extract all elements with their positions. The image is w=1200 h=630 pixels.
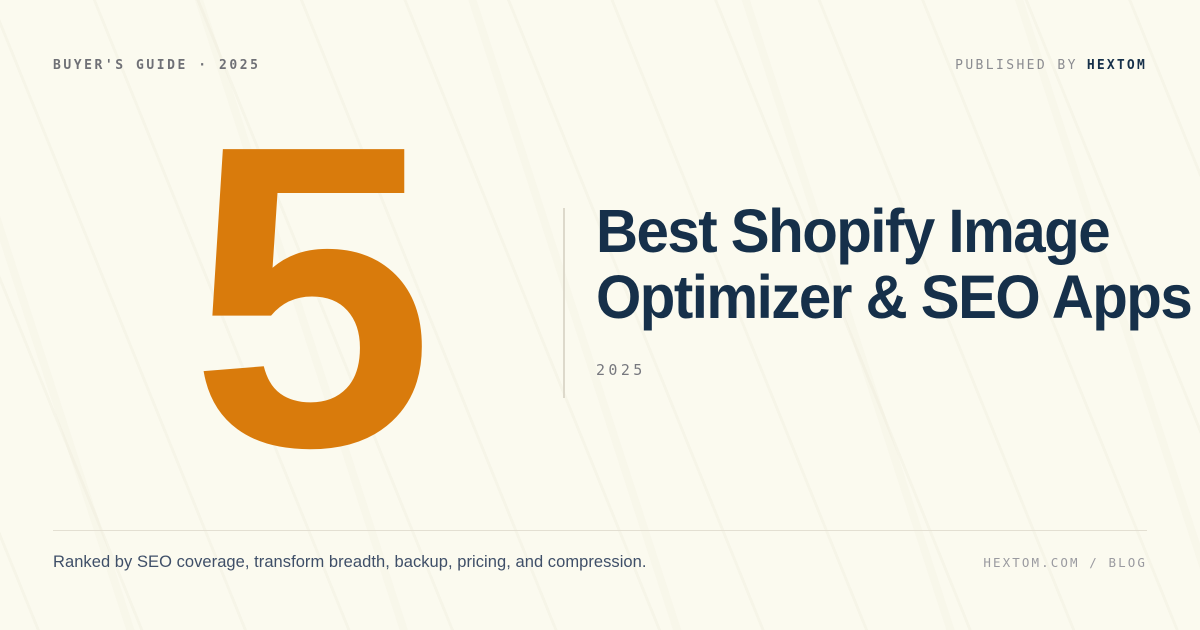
poster-canvas: BUYER'S GUIDE · 2025 PUBLISHED BY HEXTOM…: [0, 0, 1200, 630]
publisher-credit: PUBLISHED BY HEXTOM: [955, 58, 1147, 73]
footer-divider: [53, 530, 1147, 531]
vertical-divider: [563, 208, 565, 398]
headline-line-1: Best Shopify Image: [596, 198, 1131, 264]
published-by-label: PUBLISHED BY: [955, 58, 1078, 73]
brand-wordmark: HEXTOM: [1087, 58, 1147, 73]
footer-note: Ranked by SEO coverage, transform breadt…: [53, 553, 647, 572]
footer-site-label: HEXTOM.COM / BLOG: [983, 555, 1147, 570]
footer-bar: Ranked by SEO coverage, transform breadt…: [53, 548, 1147, 576]
headline-year: 2025: [596, 361, 1156, 379]
headline-line-2: Optimizer & SEO Apps: [596, 264, 1131, 330]
rank-number: 5: [175, 62, 440, 532]
hero-section: 5 Best Shopify Image Optimizer & SEO App…: [0, 120, 1200, 480]
headline-block: Best Shopify Image Optimizer & SEO Apps …: [596, 198, 1156, 379]
